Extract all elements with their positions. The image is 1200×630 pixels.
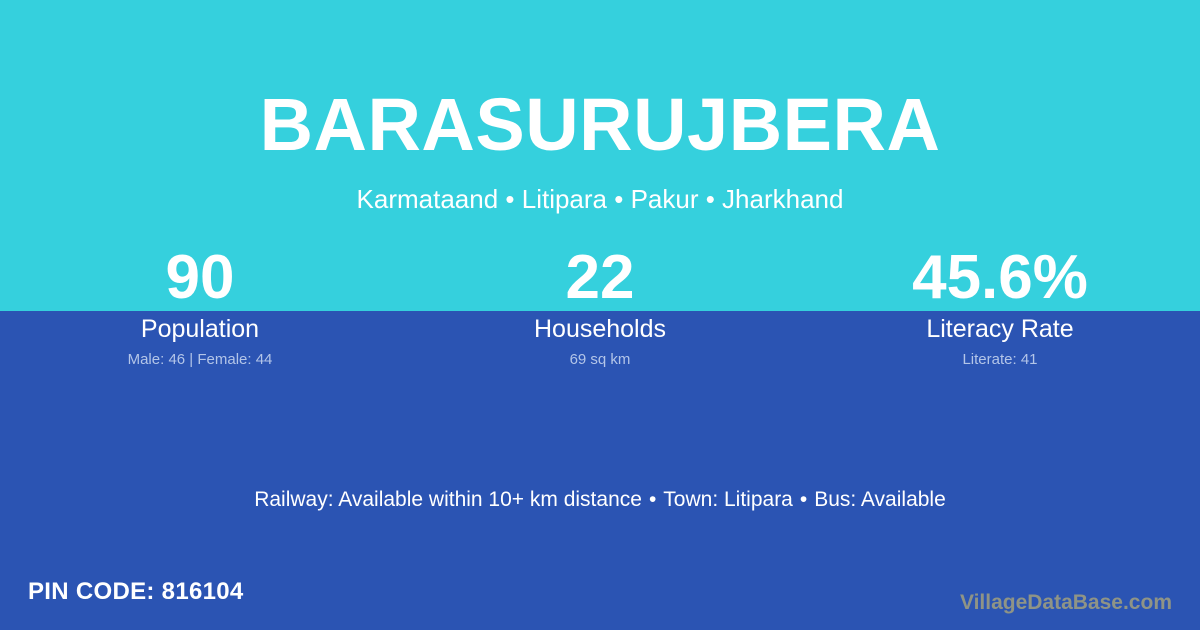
facility-town: Town: Litipara xyxy=(663,488,793,511)
stat-literacy-rate-value: 45.6% xyxy=(800,244,1200,312)
facility-separator-2: • xyxy=(793,488,814,511)
facility-bus: Bus: Available xyxy=(814,488,946,511)
stat-population-value: 90 xyxy=(0,244,400,312)
stat-households-sub: 69 sq km xyxy=(400,350,800,370)
facility-railway: Railway: Available within 10+ km distanc… xyxy=(254,488,642,511)
stat-literacy-rate-sub: Literate: 41 xyxy=(800,350,1200,370)
stat-literacy-rate: 45.6% Literacy Rate Literate: 41 xyxy=(800,244,1200,370)
breadcrumb: Karmataand • Litipara • Pakur • Jharkhan… xyxy=(0,182,1200,216)
stat-literacy-rate-label: Literacy Rate xyxy=(800,313,1200,345)
stats-row: 90 Population Male: 46 | Female: 44 22 H… xyxy=(0,244,1200,370)
stat-households-label: Households xyxy=(400,313,800,345)
pin-code: PIN CODE: 816104 xyxy=(28,577,244,607)
stat-population: 90 Population Male: 46 | Female: 44 xyxy=(0,244,400,370)
village-info-card: BARASURUJBERA Karmataand • Litipara • Pa… xyxy=(0,0,1200,630)
facilities-line: Railway: Available within 10+ km distanc… xyxy=(0,486,1200,514)
stat-population-sub: Male: 46 | Female: 44 xyxy=(0,350,400,370)
stat-households: 22 Households 69 sq km xyxy=(400,244,800,370)
facility-separator-1: • xyxy=(642,488,663,511)
site-watermark: VillageDataBase.com xyxy=(960,590,1172,616)
stat-population-label: Population xyxy=(0,313,400,345)
stat-households-value: 22 xyxy=(400,244,800,312)
footer-section: PIN CODE: 816104 VillageDataBase.com xyxy=(0,572,1200,630)
page-title: BARASURUJBERA xyxy=(0,82,1200,168)
